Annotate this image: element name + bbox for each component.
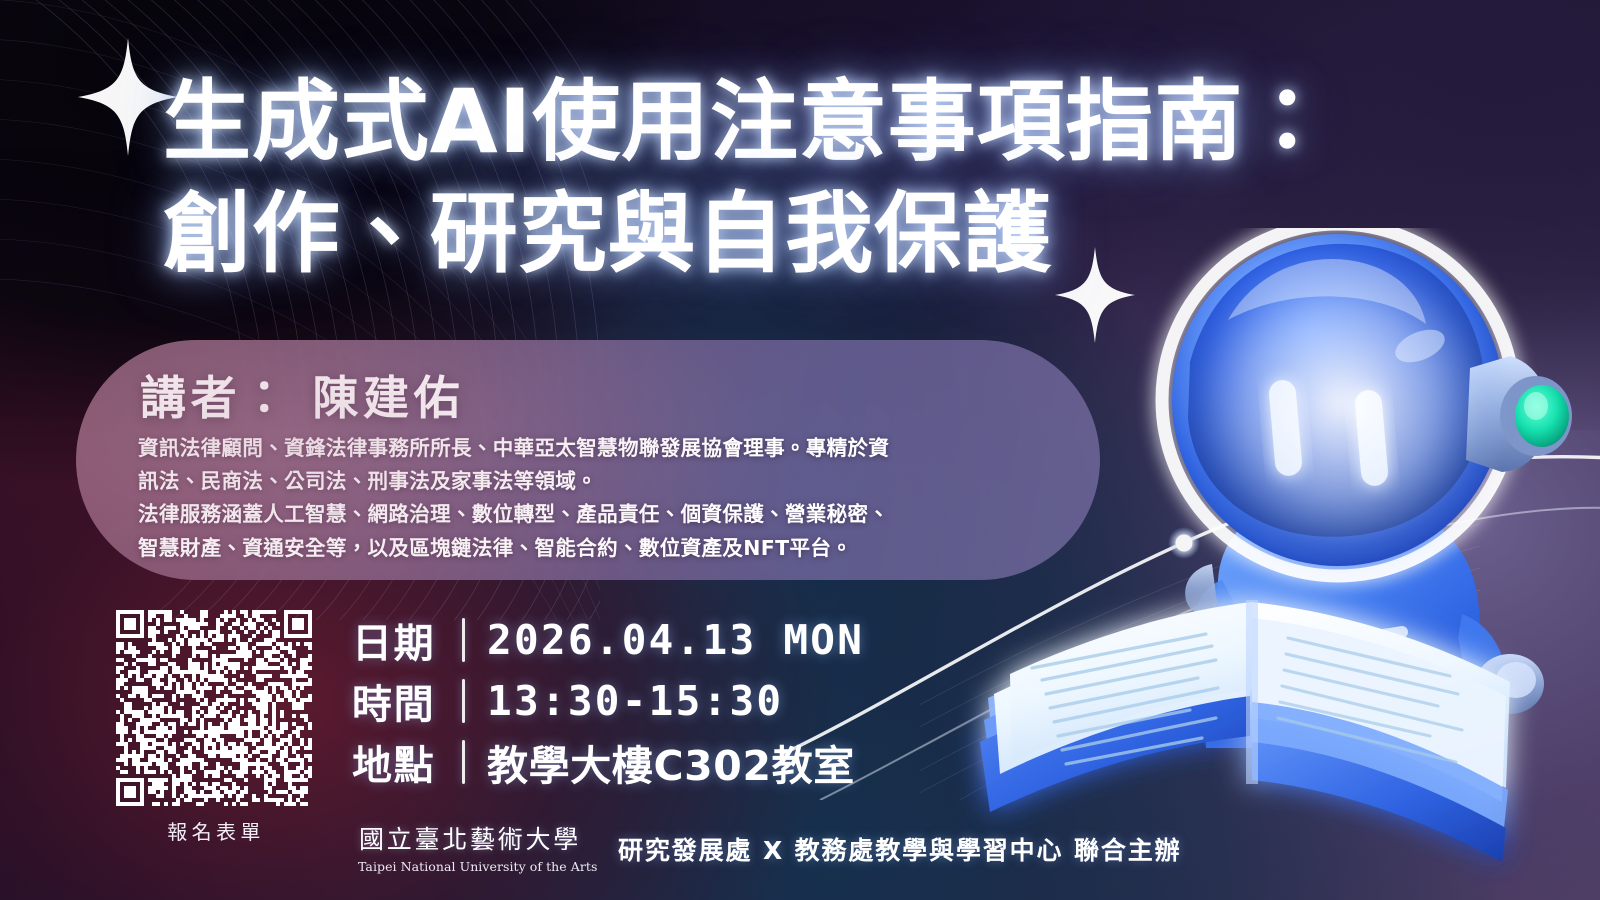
detail-value-location: 教學大樓C302教室 — [487, 732, 855, 792]
detail-label-location: 地點 — [352, 733, 452, 791]
speaker-bio-line: 資訊法律顧問、資鋒法律事務所所長、中華亞太智慧物聯發展協會理事。專精於資 — [138, 432, 1078, 465]
poster-title: 生成式AI使用注意事項指南： 創作、研究與自我保護 — [163, 78, 1293, 278]
event-details: 日期 2026.04.13 MON 時間 13:30-15:30 地點 教學大樓… — [352, 612, 864, 795]
detail-separator — [462, 618, 465, 662]
speaker-bio-line: 法律服務涵蓋人工智慧、網路治理、數位轉型、產品責任、個資保護、營業秘密、 — [138, 498, 1078, 531]
speaker-panel: 講者： 陳建佑 資訊法律顧問、資鋒法律事務所所長、中華亞太智慧物聯發展協會理事。… — [76, 340, 1100, 580]
detail-row-location: 地點 教學大樓C302教室 — [352, 734, 864, 790]
detail-value-time: 13:30-15:30 — [487, 677, 783, 725]
registration-qr-block[interactable]: 報名表單 — [116, 610, 316, 845]
qr-code-label: 報名表單 — [116, 816, 316, 845]
university-name-zh: 國立臺北藝術大學 — [358, 826, 582, 855]
speaker-name: 講者： 陳建佑 — [140, 362, 464, 428]
detail-label-date: 日期 — [352, 611, 452, 669]
speaker-bio-line: 智慧財產、資通安全等，以及區塊鏈法律、智能合約、數位資產及NFT平台。 — [138, 532, 1078, 565]
speaker-bio: 資訊法律顧問、資鋒法律事務所所長、中華亞太智慧物聯發展協會理事。專精於資 訊法、… — [138, 432, 1078, 565]
detail-separator — [462, 679, 465, 723]
poster-footer: 國立臺北藝術大學 Taipei National University of t… — [358, 826, 1182, 874]
poster-root: 生成式AI使用注意事項指南： 創作、研究與自我保護 講者： 陳建佑 資訊法律顧問… — [0, 0, 1600, 900]
title-line-2: 創作、研究與自我保護 — [163, 190, 1293, 278]
title-line-1: 生成式AI使用注意事項指南： — [163, 78, 1293, 166]
university-logo: 國立臺北藝術大學 Taipei National University of t… — [358, 826, 582, 874]
university-name-en: Taipei National University of the Arts — [358, 859, 582, 874]
detail-value-date: 2026.04.13 MON — [487, 616, 864, 664]
detail-row-time: 時間 13:30-15:30 — [352, 673, 864, 729]
qr-code-icon[interactable] — [116, 610, 312, 806]
detail-label-time: 時間 — [352, 672, 452, 730]
detail-separator — [462, 740, 465, 784]
detail-row-date: 日期 2026.04.13 MON — [352, 612, 864, 668]
speaker-bio-line: 訊法、民商法、公司法、刑事法及家事法等領域。 — [138, 465, 1078, 498]
organizers-text: 研究發展處 X 教務處教學與學習中心 聯合主辦 — [618, 831, 1182, 874]
